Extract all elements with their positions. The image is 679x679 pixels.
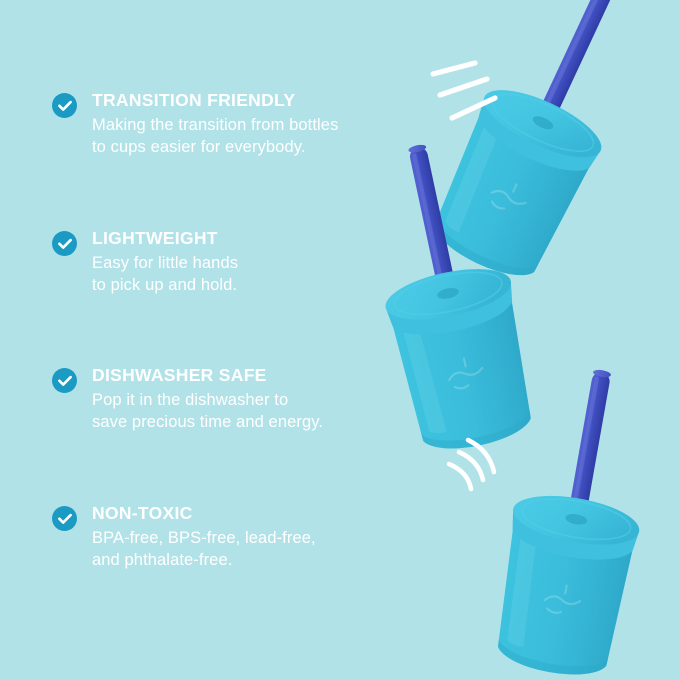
feature-description-line: save precious time and energy. xyxy=(92,412,323,434)
feature-title: DISHWASHER SAFE xyxy=(92,366,323,386)
check-circle-icon xyxy=(52,93,77,118)
feature-description-line: BPA-free, BPS-free, lead-free, xyxy=(92,528,316,550)
feature-text: TRANSITION FRIENDLY Making the transitio… xyxy=(92,91,338,158)
feature-text: NON-TOXIC BPA-free, BPS-free, lead-free,… xyxy=(92,504,316,571)
check-circle-icon xyxy=(52,231,77,256)
product-feature-infographic: TRANSITION FRIENDLY Making the transitio… xyxy=(0,0,679,679)
check-circle-icon xyxy=(52,368,77,393)
feature-description: BPA-free, BPS-free, lead-free, and phtha… xyxy=(92,528,316,572)
feature-list: TRANSITION FRIENDLY Making the transitio… xyxy=(0,0,400,679)
feature-description: Easy for little hands to pick up and hol… xyxy=(92,253,238,297)
check-circle-icon xyxy=(52,506,77,531)
feature-description: Pop it in the dishwasher to save preciou… xyxy=(92,390,323,434)
feature-description-line: to cups easier for everybody. xyxy=(92,137,338,159)
feature-item-dishwasher-safe: DISHWASHER SAFE Pop it in the dishwasher… xyxy=(52,366,392,433)
feature-item-transition-friendly: TRANSITION FRIENDLY Making the transitio… xyxy=(52,91,392,158)
feature-item-non-toxic: NON-TOXIC BPA-free, BPS-free, lead-free,… xyxy=(52,504,392,571)
feature-description-line: and phthalate-free. xyxy=(92,550,316,572)
feature-description-line: to pick up and hold. xyxy=(92,275,238,297)
feature-title: LIGHTWEIGHT xyxy=(92,229,238,249)
cup-top xyxy=(419,0,665,291)
feature-title: TRANSITION FRIENDLY xyxy=(92,91,338,111)
feature-description-line: Making the transition from bottles xyxy=(92,115,338,137)
feature-title: NON-TOXIC xyxy=(92,504,316,524)
feature-description: Making the transition from bottles to cu… xyxy=(92,115,338,159)
feature-text: DISHWASHER SAFE Pop it in the dishwasher… xyxy=(92,366,323,433)
feature-item-lightweight: LIGHTWEIGHT Easy for little hands to pic… xyxy=(52,229,392,296)
feature-description-line: Pop it in the dishwasher to xyxy=(92,390,323,412)
feature-text: LIGHTWEIGHT Easy for little hands to pic… xyxy=(92,229,238,296)
feature-description-line: Easy for little hands xyxy=(92,253,238,275)
